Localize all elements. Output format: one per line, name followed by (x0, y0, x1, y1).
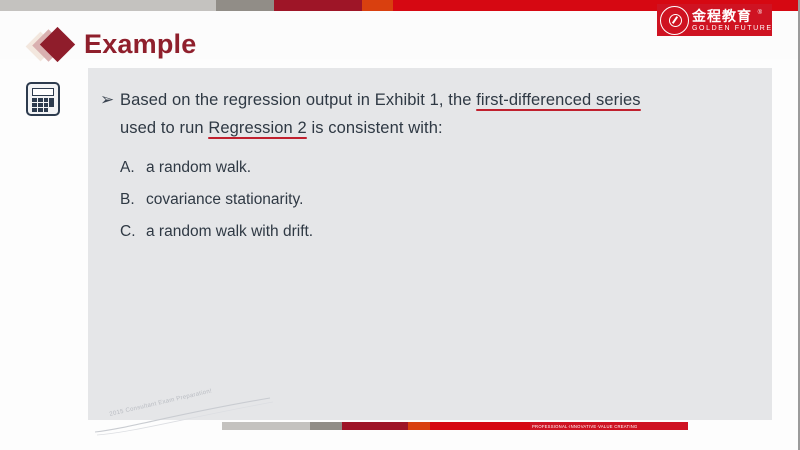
topbar-segment-medium-gray (216, 0, 274, 11)
calculator-key (38, 98, 43, 102)
option-letter-c: C. (120, 216, 146, 248)
content-panel: ➢ Based on the regression output in Exhi… (88, 68, 772, 420)
answer-option-a[interactable]: A. a random walk. (120, 152, 760, 184)
calculator-screen (32, 88, 54, 96)
bottombar-segment-light-gray (222, 422, 310, 430)
calculator-keys (32, 98, 54, 112)
calculator-key (44, 108, 49, 112)
bottom-decorative-bar: PROFESSIONAL·INNOVATIVE·VALUE CREATING (222, 422, 710, 430)
logo-english-name: GOLDEN FUTURE (692, 25, 772, 32)
question-part-1: Based on the regression output in Exhibi… (120, 91, 476, 109)
bottombar-segment-bright-red (430, 422, 530, 430)
arrow-bullet-icon: ➢ (100, 86, 120, 113)
option-letter-b: B. (120, 184, 146, 216)
logo-emblem-key-icon (671, 16, 677, 24)
bottombar-segment-medium-gray (310, 422, 342, 430)
calculator-key (44, 98, 49, 102)
page-title: Example (84, 27, 196, 61)
question-row: ➢ Based on the regression output in Exhi… (100, 86, 760, 142)
bottombar-segment-dark-red (342, 422, 408, 430)
question-part-2: used to run (120, 119, 208, 137)
calculator-icon (26, 82, 60, 116)
topbar-segment-dark-red (274, 0, 362, 11)
logo-registered-mark: ® (758, 10, 762, 16)
question-block: ➢ Based on the regression output in Exhi… (100, 86, 760, 248)
calculator-key (38, 103, 43, 107)
calculator-key (44, 103, 49, 107)
bottombar-segment-bright-red-tail (640, 422, 688, 430)
calculator-key (32, 108, 37, 112)
question-highlight-regression-2: Regression 2 (208, 119, 306, 137)
question-part-3: is consistent with: (307, 119, 443, 137)
calculator-key (38, 108, 43, 112)
diamond-bullet-icon (30, 27, 80, 67)
calculator-key (32, 103, 37, 107)
brand-logo: 金程教育 GOLDEN FUTURE ® (657, 4, 772, 36)
option-text-a: a random walk. (146, 152, 251, 184)
answer-option-c[interactable]: C. a random walk with drift. (120, 216, 760, 248)
bottombar-segment-orange-red (408, 422, 430, 430)
answer-options-list: A. a random walk. B. covariance stationa… (120, 152, 760, 248)
question-highlight-first-differenced: first-differenced series (476, 91, 640, 109)
option-text-b: covariance stationarity. (146, 184, 303, 216)
topbar-segment-orange-red (362, 0, 393, 11)
topbar-segment-light-gray (0, 0, 216, 11)
calculator-key (32, 98, 37, 102)
logo-emblem-icon (660, 6, 689, 35)
question-text: Based on the regression output in Exhibi… (120, 86, 641, 142)
option-text-c: a random walk with drift. (146, 216, 313, 248)
slide-canvas: Example 金程教育 GOLDEN FUTURE ® (0, 0, 800, 450)
calculator-key-tall (49, 98, 54, 107)
footer-tagline: PROFESSIONAL·INNOVATIVE·VALUE CREATING (530, 422, 640, 430)
answer-option-b[interactable]: B. covariance stationarity. (120, 184, 760, 216)
option-letter-a: A. (120, 152, 146, 184)
